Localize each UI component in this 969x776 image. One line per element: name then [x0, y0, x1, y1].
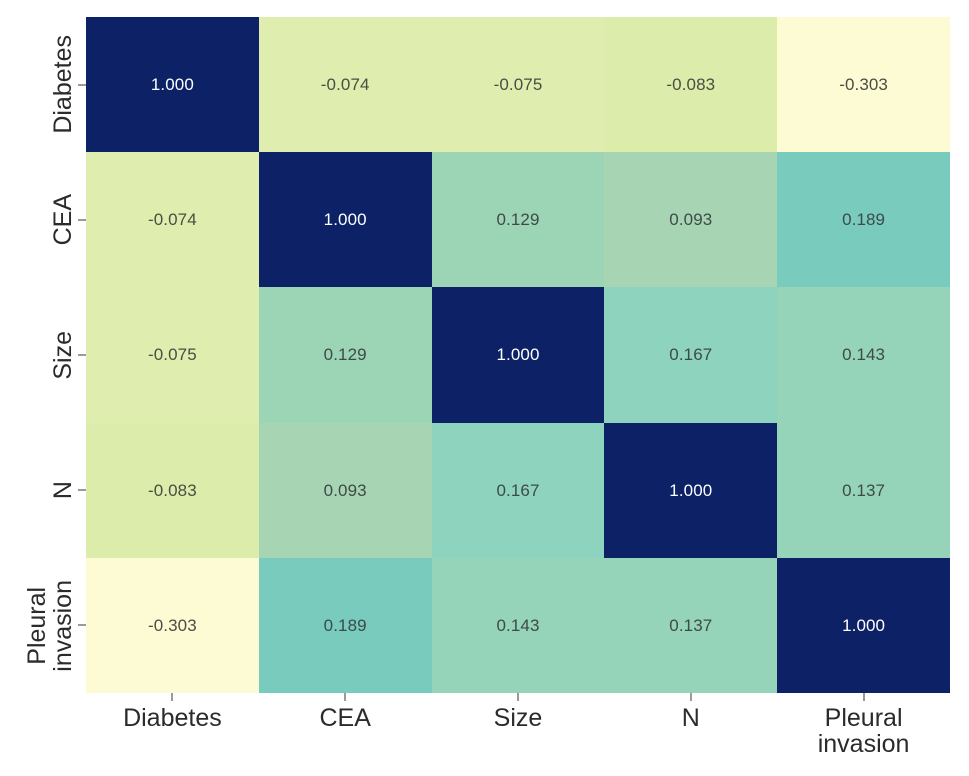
y-tick-row: CEA — [0, 152, 86, 287]
heatmap-cell: 0.143 — [777, 287, 950, 422]
heatmap-cell: 0.189 — [777, 152, 950, 287]
heatmap-cell-value: 1.000 — [842, 617, 885, 634]
heatmap-figure: Diabetes CEA Size N Pleural invasion 1.0… — [0, 0, 969, 776]
heatmap-cell-value: 0.129 — [324, 346, 367, 363]
heatmap-cell-value: 0.189 — [842, 211, 885, 228]
x-tick-mark — [863, 693, 865, 701]
y-tick-mark — [78, 624, 86, 626]
heatmap-cell: -0.303 — [86, 558, 259, 693]
heatmap-cell-value: 0.129 — [496, 211, 539, 228]
heatmap-cell-value: 1.000 — [324, 211, 367, 228]
y-tick-mark — [78, 354, 86, 356]
heatmap-cell: 0.143 — [432, 558, 605, 693]
y-tick-row: Pleural invasion — [0, 558, 86, 693]
x-axis-label-diabetes: Diabetes — [123, 705, 222, 731]
heatmap-cell-value: -0.075 — [148, 346, 197, 363]
heatmap-cell: 0.129 — [259, 287, 432, 422]
x-tick-mark — [517, 693, 519, 701]
heatmap-cell-value: -0.303 — [148, 617, 197, 634]
heatmap-cell-value: 1.000 — [496, 346, 539, 363]
x-axis-label-n: N — [682, 705, 700, 731]
heatmap-cell: -0.074 — [86, 152, 259, 287]
x-tick-col: Size — [432, 693, 605, 776]
heatmap-cell-value: -0.083 — [666, 76, 715, 93]
heatmap-cell-value: 0.137 — [842, 482, 885, 499]
y-tick-row: N — [0, 423, 86, 558]
y-axis-label-diabetes: Diabetes — [50, 35, 76, 134]
heatmap-cell: 1.000 — [604, 423, 777, 558]
heatmap-cell: 0.167 — [604, 287, 777, 422]
heatmap-cell-value: 0.143 — [496, 617, 539, 634]
y-axis-label-cea: CEA — [50, 194, 76, 245]
y-axis-label-n: N — [50, 481, 76, 499]
x-tick-mark — [344, 693, 346, 701]
heatmap-cell-value: 1.000 — [669, 482, 712, 499]
heatmap-cell: 0.093 — [604, 152, 777, 287]
y-axis-label-size: Size — [50, 331, 76, 380]
heatmap-plot-area: 1.000-0.074-0.075-0.083-0.303-0.0741.000… — [86, 17, 950, 693]
heatmap-cell-value: -0.083 — [148, 482, 197, 499]
heatmap-cell: 0.167 — [432, 423, 605, 558]
x-axis-label-cea: CEA — [319, 705, 370, 731]
y-tick-row: Diabetes — [0, 17, 86, 152]
heatmap-cell: -0.074 — [259, 17, 432, 152]
heatmap-cell: 0.189 — [259, 558, 432, 693]
heatmap-cell: -0.075 — [432, 17, 605, 152]
heatmap-cell: 1.000 — [86, 17, 259, 152]
y-tick-row: Size — [0, 287, 86, 422]
y-tick-mark — [78, 489, 86, 491]
heatmap-cell: 0.137 — [777, 423, 950, 558]
heatmap-cell-value: 0.189 — [324, 617, 367, 634]
heatmap-cell-value: -0.074 — [148, 211, 197, 228]
heatmap-cell-value: 0.093 — [669, 211, 712, 228]
heatmap-cell: -0.083 — [604, 17, 777, 152]
x-tick-mark — [690, 693, 692, 701]
x-axis-label-pleural-invasion: Pleural invasion — [818, 705, 910, 757]
heatmap-cell: 0.093 — [259, 423, 432, 558]
x-tick-col: N — [604, 693, 777, 776]
heatmap-cell-value: -0.303 — [839, 76, 888, 93]
heatmap-cell-value: 0.093 — [324, 482, 367, 499]
heatmap-cell-value: -0.074 — [321, 76, 370, 93]
heatmap-grid: 1.000-0.074-0.075-0.083-0.303-0.0741.000… — [86, 17, 950, 693]
x-tick-col: Diabetes — [86, 693, 259, 776]
x-tick-col: CEA — [259, 693, 432, 776]
heatmap-cell: 1.000 — [777, 558, 950, 693]
heatmap-cell: 0.137 — [604, 558, 777, 693]
x-tick-col: Pleural invasion — [777, 693, 950, 776]
heatmap-cell-value: -0.075 — [494, 76, 543, 93]
x-axis: Diabetes CEA Size N Pleural invasion — [86, 693, 950, 776]
heatmap-cell-value: 0.137 — [669, 617, 712, 634]
heatmap-cell-value: 0.167 — [496, 482, 539, 499]
heatmap-cell-value: 1.000 — [151, 76, 194, 93]
heatmap-cell: -0.075 — [86, 287, 259, 422]
heatmap-cell-value: 0.167 — [669, 346, 712, 363]
heatmap-cell-value: 0.143 — [842, 346, 885, 363]
heatmap-cell: 1.000 — [432, 287, 605, 422]
heatmap-cell: 1.000 — [259, 152, 432, 287]
y-tick-mark — [78, 84, 86, 86]
x-axis-label-size: Size — [494, 705, 543, 731]
y-axis-label-pleural-invasion: Pleural invasion — [24, 580, 76, 672]
heatmap-cell: -0.083 — [86, 423, 259, 558]
heatmap-cell: -0.303 — [777, 17, 950, 152]
y-tick-mark — [78, 219, 86, 221]
heatmap-cell: 0.129 — [432, 152, 605, 287]
x-tick-mark — [171, 693, 173, 701]
y-axis: Diabetes CEA Size N Pleural invasion — [0, 17, 86, 693]
